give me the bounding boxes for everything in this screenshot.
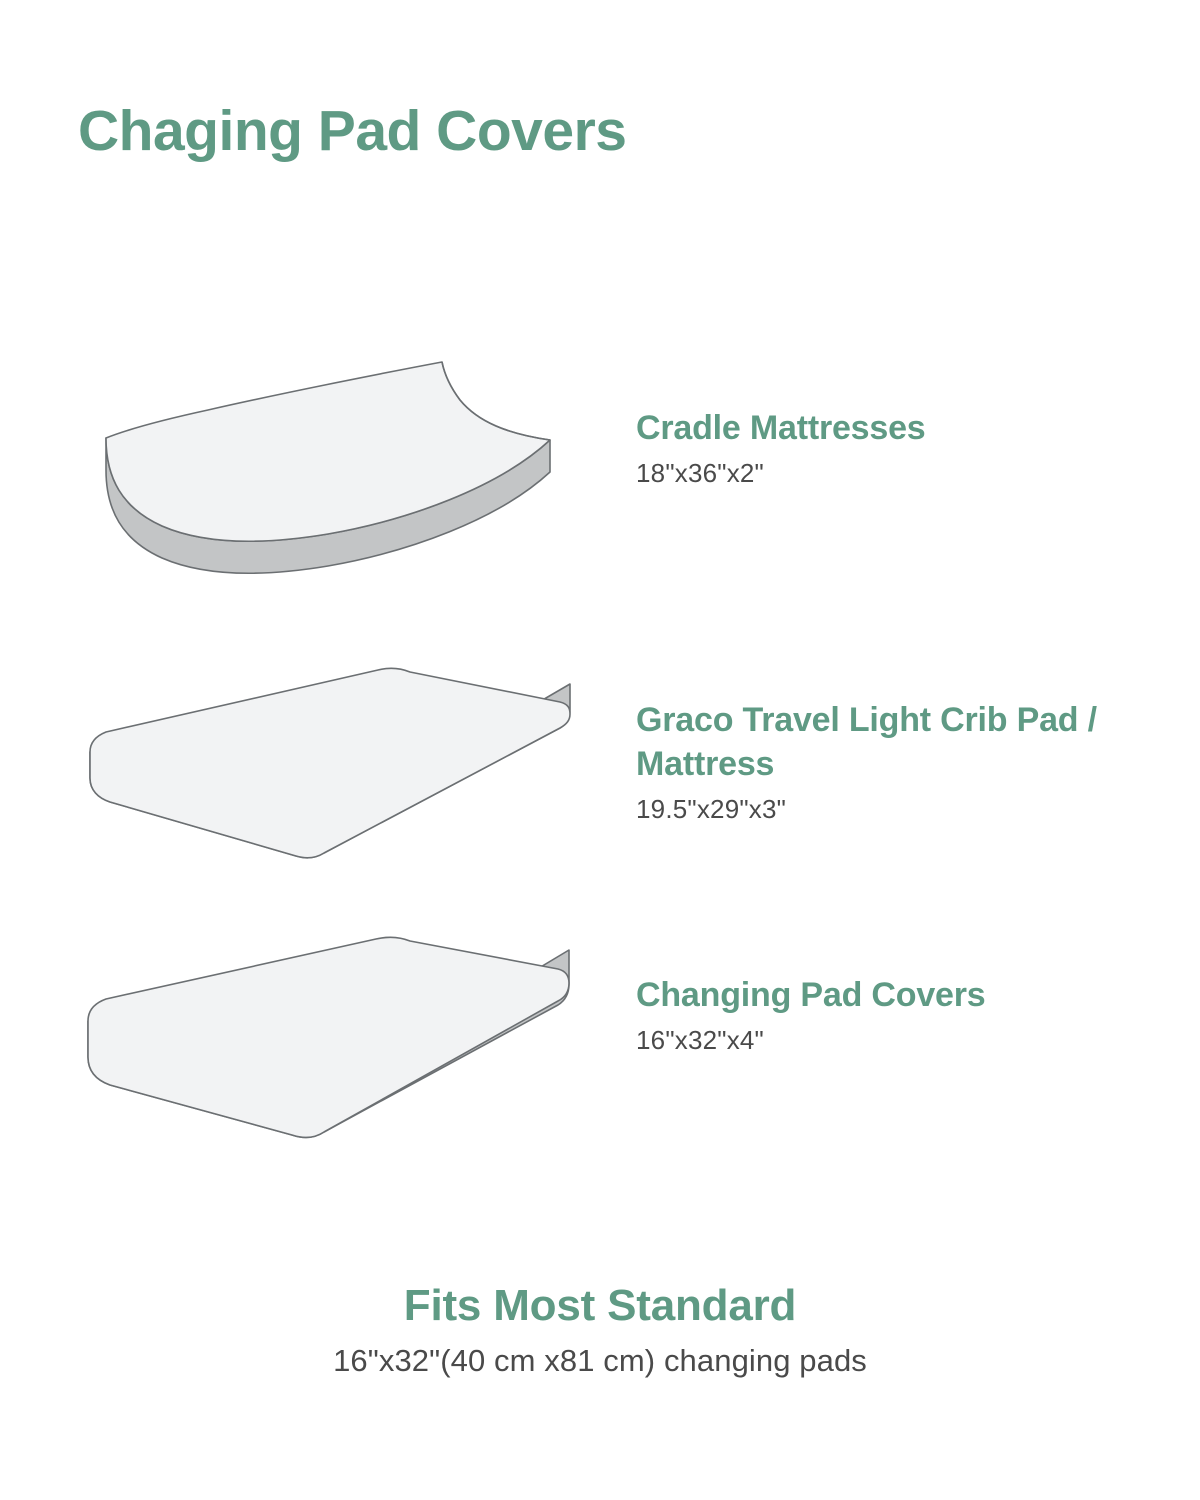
product-info: Cradle Mattresses 18"x36"x2" (636, 406, 1156, 490)
product-name: Changing Pad Covers (636, 973, 1156, 1017)
contoured-changing-pad-illustration (78, 360, 578, 600)
flat-thick-mattress-illustration (78, 935, 578, 1160)
product-name: Graco Travel Light Crib Pad / Mattress (636, 698, 1156, 786)
footer-subtext: 16"x32"(40 cm x81 cm) changing pads (0, 1340, 1200, 1382)
product-dimensions: 19.5"x29"x3" (636, 792, 1156, 826)
product-row-graco-travel-light-crib-pad: Graco Travel Light Crib Pad / Mattress 1… (0, 660, 1200, 910)
flat-thin-mattress-illustration (78, 660, 578, 890)
product-dimensions: 18"x36"x2" (636, 456, 1156, 490)
product-info: Graco Travel Light Crib Pad / Mattress 1… (636, 698, 1156, 826)
product-info: Changing Pad Covers 16"x32"x4" (636, 973, 1156, 1057)
footer-headline: Fits Most Standard (0, 1278, 1200, 1334)
product-row-changing-pad-covers: Changing Pad Covers 16"x32"x4" (0, 935, 1200, 1175)
footer-block: Fits Most Standard 16"x32"(40 cm x81 cm)… (0, 1278, 1200, 1382)
page-title: Chaging Pad Covers (78, 97, 626, 165)
product-row-cradle-mattresses: Cradle Mattresses 18"x36"x2" (0, 360, 1200, 610)
infographic-page: Chaging Pad Covers Cradle Mattresses 18"… (0, 0, 1200, 1500)
product-dimensions: 16"x32"x4" (636, 1023, 1156, 1057)
product-name: Cradle Mattresses (636, 406, 1156, 450)
